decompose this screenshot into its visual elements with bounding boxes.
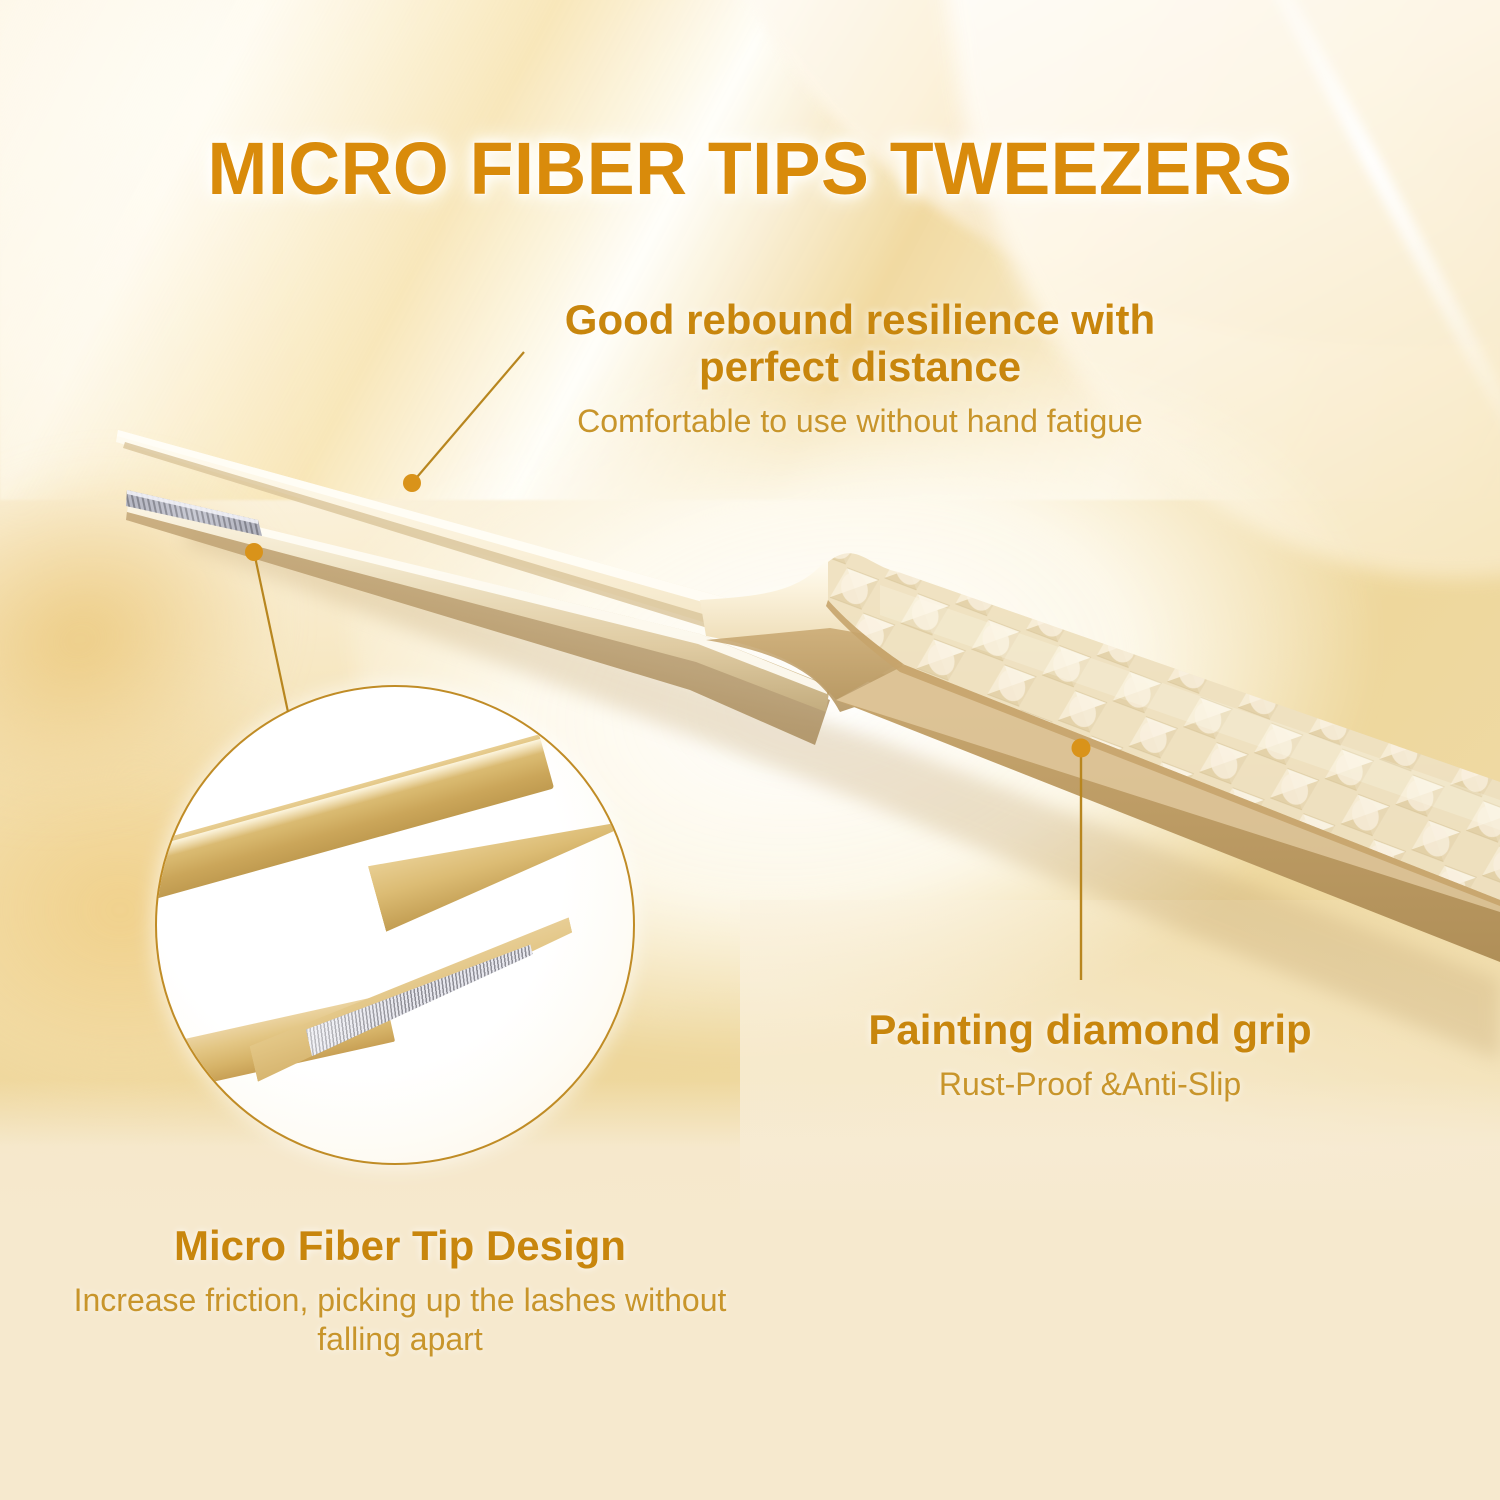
callout-grip-heading: Painting diamond grip [780,1006,1400,1053]
callout-tip-subtext: Increase friction, picking up the lashes… [60,1281,740,1359]
callout-rebound-subtext: Comfortable to use without hand fatigue [500,402,1220,441]
callout-grip-subtext: Rust-Proof &Anti-Slip [780,1065,1400,1104]
magnified-micro-fiber-sheen [298,942,544,1056]
callout-rebound-heading: Good rebound resilience with perfect dis… [500,296,1220,390]
callout-tip: Micro Fiber Tip Design Increase friction… [60,1222,740,1359]
callout-grip: Painting diamond grip Rust-Proof &Anti-S… [780,1006,1400,1104]
magnifier-content [157,687,633,1163]
product-infographic: MICRO FIBER TIPS TWEEZERS Good rebound r… [0,0,1500,1500]
magnifier-circle-tip-detail [155,685,635,1165]
page-title: MICRO FIBER TIPS TWEEZERS [23,126,1478,211]
callout-rebound: Good rebound resilience with perfect dis… [500,296,1220,441]
callout-tip-heading: Micro Fiber Tip Design [60,1222,740,1269]
